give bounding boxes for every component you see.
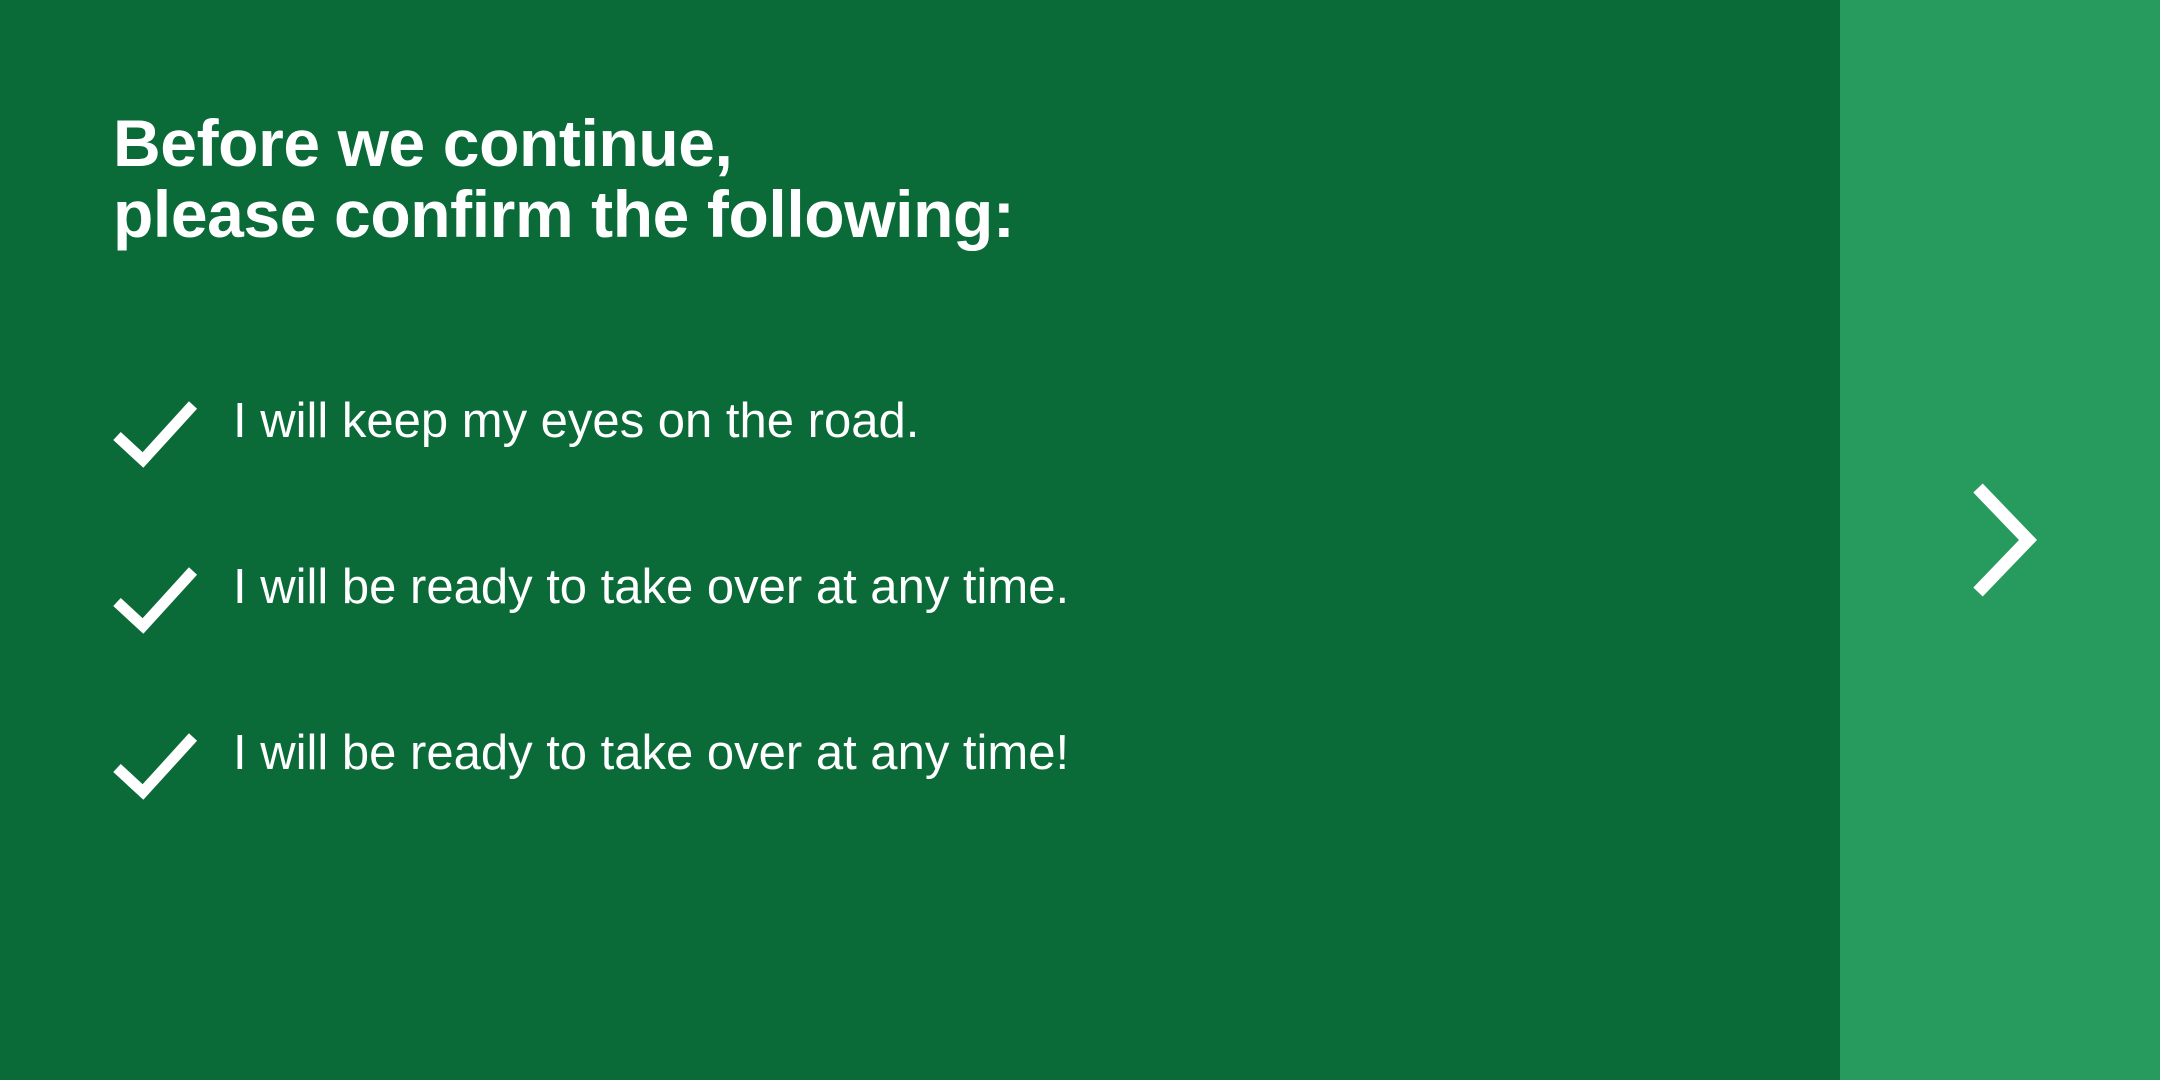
next-button[interactable] [1840,0,2160,1080]
list-item[interactable]: I will be ready to take over at any time… [113,722,1763,888]
content-panel: Before we continue, please confirm the f… [0,0,1840,1080]
list-item-label: I will keep my eyes on the road. [233,390,919,451]
check-icon [113,390,233,464]
chevron-right-icon [1958,480,2042,600]
page-title: Before we continue, please confirm the f… [113,108,1713,251]
confirmation-list: I will keep my eyes on the road. I will … [113,390,1763,888]
confirmation-screen: Before we continue, please confirm the f… [0,0,2160,1080]
list-item[interactable]: I will be ready to take over at any time… [113,556,1763,722]
list-item-label: I will be ready to take over at any time… [233,556,1069,617]
check-icon [113,722,233,796]
list-item-label: I will be ready to take over at any time… [233,722,1069,783]
check-icon [113,556,233,630]
list-item[interactable]: I will keep my eyes on the road. [113,390,1763,556]
